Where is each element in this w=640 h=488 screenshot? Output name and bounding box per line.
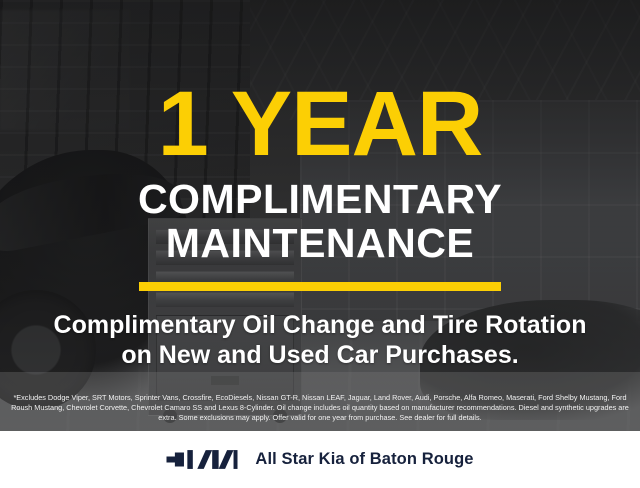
headline-secondary-line-2: MAINTENANCE <box>166 223 474 265</box>
offer-description-line-2: on New and Used Car Purchases. <box>121 340 518 371</box>
headline-primary: 1 YEAR <box>158 78 483 170</box>
banner-content: 1 YEAR COMPLIMENTARY MAINTENANCE Complim… <box>0 0 640 431</box>
offer-description-line-1: Complimentary Oil Change and Tire Rotati… <box>54 310 587 341</box>
promotional-banner: 1 YEAR COMPLIMENTARY MAINTENANCE Complim… <box>0 0 640 488</box>
headline-secondary-line-1: COMPLIMENTARY <box>138 179 502 221</box>
dealer-name-label: All Star Kia of Baton Rouge <box>255 450 473 469</box>
kia-logo-icon <box>166 448 238 471</box>
yellow-divider-rule <box>139 282 501 291</box>
legal-disclaimer-text: *Excludes Dodge Viper, SRT Motors, Sprin… <box>0 393 640 424</box>
dealer-footer-bar: All Star Kia of Baton Rouge <box>0 431 640 488</box>
